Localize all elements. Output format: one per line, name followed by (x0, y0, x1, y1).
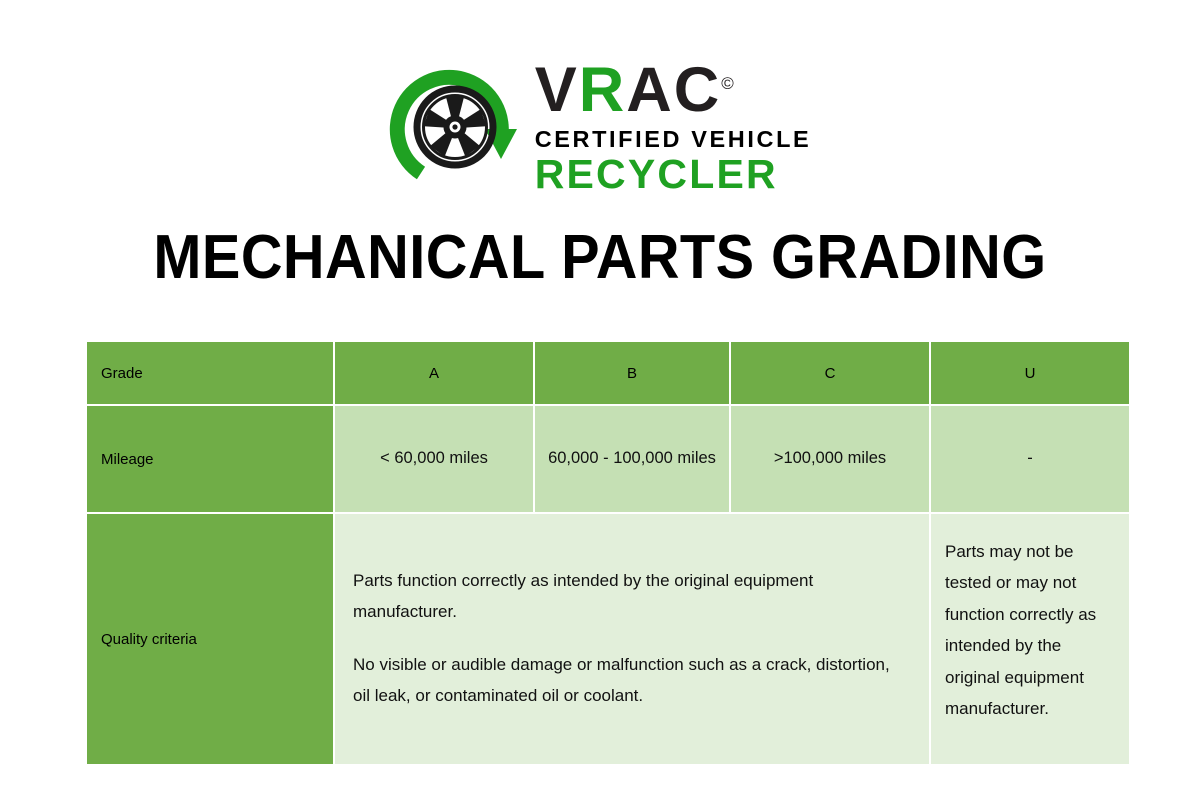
quality-paragraph-2: No visible or audible damage or malfunct… (353, 650, 911, 712)
logo-tagline-bottom: RECYCLER (535, 154, 778, 195)
quality-grades-abc: Parts function correctly as intended by … (335, 514, 929, 764)
table-row-quality-criteria: Quality criteria Parts function correctl… (87, 514, 1129, 764)
row-label-quality-criteria: Quality criteria (87, 514, 333, 764)
logo-inner: VRAC© CERTIFIED VEHICLE RECYCLER (389, 59, 812, 195)
header-grade-c: C (731, 342, 929, 404)
logo-letter-v: V (535, 55, 579, 125)
logo-wordmark: VRAC© CERTIFIED VEHICLE RECYCLER (535, 59, 812, 195)
logo-vrac-text: VRAC© (535, 61, 734, 121)
mileage-grade-u: - (931, 406, 1129, 512)
mileage-grade-b: 60,000 - 100,000 miles (535, 406, 729, 512)
quality-grade-u: Parts may not be tested or may not funct… (931, 514, 1129, 764)
table-body: Mileage < 60,000 miles 60,000 - 100,000 … (87, 406, 1129, 764)
header-grade-label: Grade (87, 342, 333, 404)
recycling-wheel-icon (389, 61, 521, 193)
table-head: Grade A B C U (87, 342, 1129, 404)
paragraph-spacer (353, 628, 911, 650)
row-label-mileage: Mileage (87, 406, 333, 512)
mileage-grade-a: < 60,000 miles (335, 406, 533, 512)
logo-letter-r: R (579, 55, 627, 125)
brand-logo: VRAC© CERTIFIED VEHICLE RECYCLER (0, 52, 1200, 202)
header-grade-u: U (931, 342, 1129, 404)
copyright-icon: © (721, 74, 734, 93)
header-grade-b: B (535, 342, 729, 404)
table-row-mileage: Mileage < 60,000 miles 60,000 - 100,000 … (87, 406, 1129, 512)
quality-paragraph-1: Parts function correctly as intended by … (353, 566, 911, 628)
mileage-grade-c: >100,000 miles (731, 406, 929, 512)
logo-letters-ac: AC (626, 55, 721, 125)
logo-tagline-top: CERTIFIED VEHICLE (535, 128, 812, 152)
mechanical-parts-grading-table: Grade A B C U Mileage < 60,000 miles 60,… (85, 340, 1131, 766)
header-grade-a: A (335, 342, 533, 404)
page-title: MECHANICAL PARTS GRADING (42, 222, 1158, 293)
table-header-row: Grade A B C U (87, 342, 1129, 404)
